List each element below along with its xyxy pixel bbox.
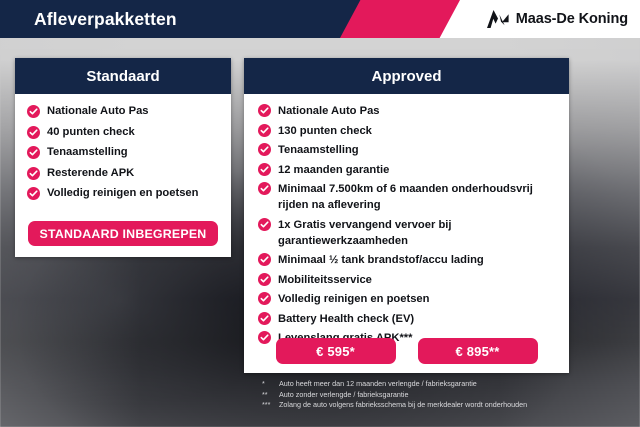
- list-item-label: Battery Health check (EV): [278, 311, 414, 327]
- footnote-single-asterisk: * Auto heeft meer dan 12 maanden verleng…: [262, 379, 622, 390]
- standaard-inbegrepen-button[interactable]: STANDAARD INBEGREPEN: [28, 221, 218, 246]
- list-item-label: Nationale Auto Pas: [278, 103, 380, 119]
- standaard-feature-list: Nationale Auto Pas 40 punten check Tenaa…: [27, 104, 219, 200]
- page-header: Afleverpakketten Maas-De Koning: [0, 0, 640, 38]
- check-circle-icon: [258, 124, 271, 137]
- card-standaard-body: Nationale Auto Pas 40 punten check Tenaa…: [15, 94, 231, 200]
- list-item: 130 punten check: [258, 123, 557, 139]
- check-circle-icon: [27, 146, 40, 159]
- list-item: Tenaamstelling: [258, 142, 557, 158]
- maas-de-koning-m-logo-icon: [487, 10, 509, 29]
- brand-logo: Maas-De Koning: [487, 0, 628, 38]
- list-item-label: Volledig reinigen en poetsen: [278, 291, 429, 307]
- header-pink-diagonal: [340, 0, 460, 38]
- price-button-595[interactable]: € 595*: [276, 338, 396, 364]
- page-title: Afleverpakketten: [34, 0, 177, 38]
- list-item: Minimaal 7.500km of 6 maanden onderhouds…: [258, 181, 557, 213]
- check-circle-icon: [258, 292, 271, 305]
- footnote-mark: *: [262, 379, 279, 390]
- list-item: 12 maanden garantie: [258, 162, 557, 178]
- footnote-text: Auto heeft meer dan 12 maanden verlengde…: [279, 379, 477, 390]
- check-circle-icon: [258, 253, 271, 266]
- list-item-label: 12 maanden garantie: [278, 162, 389, 178]
- brand-name: Maas-De Koning: [516, 11, 628, 27]
- card-approved-body: Nationale Auto Pas 130 punten check Tena…: [244, 94, 569, 346]
- list-item-label: 40 punten check: [47, 125, 135, 139]
- list-item: 1x Gratis vervangend vervoer bij garanti…: [258, 217, 557, 249]
- check-circle-icon: [27, 167, 40, 180]
- footnote-text: Auto zonder verlengde / fabrieksgarantie: [279, 390, 408, 401]
- check-circle-icon: [27, 187, 40, 200]
- footnote-mark: ***: [262, 400, 279, 411]
- footnote-mark: **: [262, 390, 279, 401]
- page-root: Afleverpakketten Maas-De Koning Standaar…: [0, 0, 640, 427]
- list-item: Nationale Auto Pas: [258, 103, 557, 119]
- list-item-label: Tenaamstelling: [47, 145, 128, 159]
- list-item-label: Volledig reinigen en poetsen: [47, 186, 198, 200]
- approved-feature-list: Nationale Auto Pas 130 punten check Tena…: [258, 103, 557, 346]
- footnote-double-asterisk: ** Auto zonder verlengde / fabrieksgaran…: [262, 390, 622, 401]
- list-item-label: Minimaal 7.500km of 6 maanden onderhouds…: [278, 181, 557, 213]
- check-circle-icon: [258, 182, 271, 195]
- check-circle-icon: [27, 126, 40, 139]
- check-circle-icon: [258, 273, 271, 286]
- footnotes: * Auto heeft meer dan 12 maanden verleng…: [262, 379, 622, 411]
- list-item-label: 130 punten check: [278, 123, 372, 139]
- list-item: Mobiliteitsservice: [258, 272, 557, 288]
- footnote-triple-asterisk: *** Zolang de auto volgens fabrieksschem…: [262, 400, 622, 411]
- list-item: Battery Health check (EV): [258, 311, 557, 327]
- list-item-label: 1x Gratis vervangend vervoer bij garanti…: [278, 217, 557, 249]
- check-circle-icon: [258, 218, 271, 231]
- list-item-label: Tenaamstelling: [278, 142, 359, 158]
- list-item: Minimaal ½ tank brandstof/accu lading: [258, 252, 557, 268]
- card-standaard: Standaard Nationale Auto Pas 40 punten c…: [15, 58, 231, 257]
- check-circle-icon: [258, 312, 271, 325]
- check-circle-icon: [258, 104, 271, 117]
- list-item: Tenaamstelling: [27, 145, 219, 159]
- list-item: Resterende APK: [27, 166, 219, 180]
- list-item: 40 punten check: [27, 125, 219, 139]
- card-standaard-title: Standaard: [15, 58, 231, 94]
- card-approved-title: Approved: [244, 58, 569, 94]
- footnote-text: Zolang de auto volgens fabrieksschema bi…: [279, 400, 527, 411]
- card-approved: Approved Nationale Auto Pas 130 punten c…: [244, 58, 569, 373]
- list-item-label: Resterende APK: [47, 166, 134, 180]
- list-item: Volledig reinigen en poetsen: [27, 186, 219, 200]
- list-item: Nationale Auto Pas: [27, 104, 219, 118]
- list-item-label: Minimaal ½ tank brandstof/accu lading: [278, 252, 484, 268]
- price-button-row: € 595* € 895**: [244, 338, 569, 364]
- check-circle-icon: [258, 163, 271, 176]
- check-circle-icon: [27, 105, 40, 118]
- list-item-label: Mobiliteitsservice: [278, 272, 372, 288]
- check-circle-icon: [258, 143, 271, 156]
- price-button-895[interactable]: € 895**: [418, 338, 538, 364]
- list-item: Volledig reinigen en poetsen: [258, 291, 557, 307]
- list-item-label: Nationale Auto Pas: [47, 104, 149, 118]
